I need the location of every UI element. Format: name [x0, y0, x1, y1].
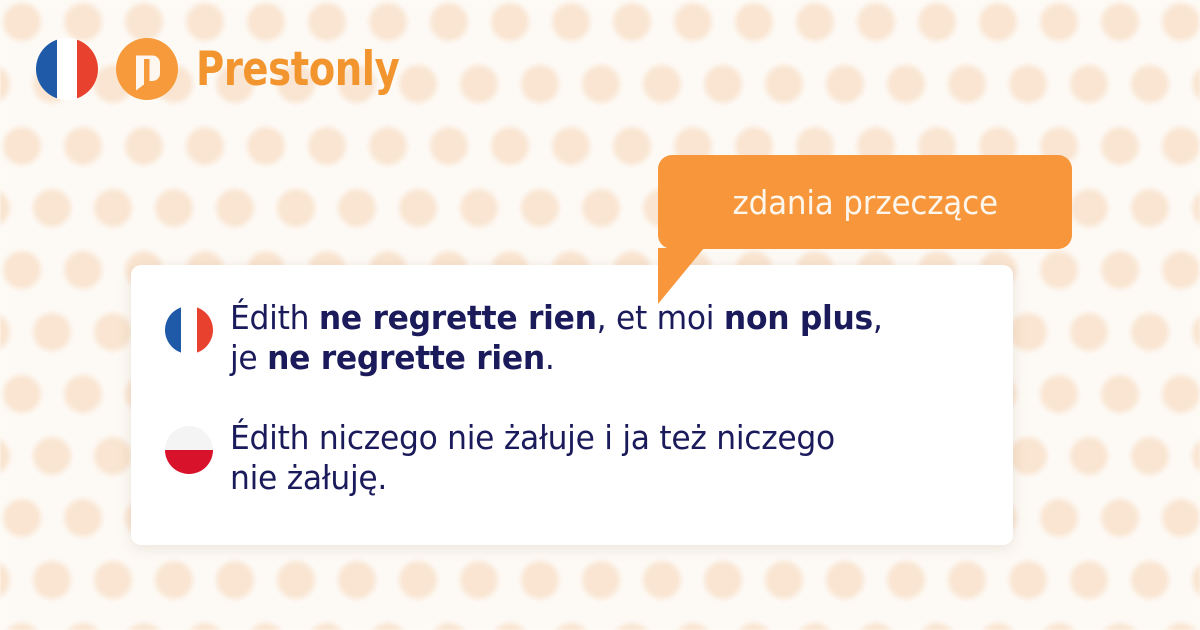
category-tag-body: zdania przeczące [658, 155, 1072, 249]
phrase-text-french: Édith ne regrette rien, et moi non plus,… [230, 298, 883, 377]
brand-name: Prestonly [196, 46, 399, 93]
speech-bubble-tail-icon [658, 248, 704, 306]
france-flag-icon [165, 306, 213, 354]
category-tag-bubble: zdania przeczące [658, 155, 1072, 249]
category-tag-label: zdania przeczące [732, 183, 997, 222]
phrase-row-polish: Édith niczego nie żałuje i ja też niczeg… [165, 418, 867, 497]
brand-header: Prestonly [36, 38, 444, 100]
phrase-text-polish: Édith niczego nie żałuje i ja też niczeg… [230, 418, 835, 497]
prestonly-speech-bubble-logo-icon [116, 38, 178, 100]
france-flag-icon [36, 38, 98, 100]
poland-flag-icon [165, 426, 213, 474]
translation-card: Édith ne regrette rien, et moi non plus,… [131, 265, 1013, 545]
phrase-row-french: Édith ne regrette rien, et moi non plus,… [165, 298, 917, 377]
